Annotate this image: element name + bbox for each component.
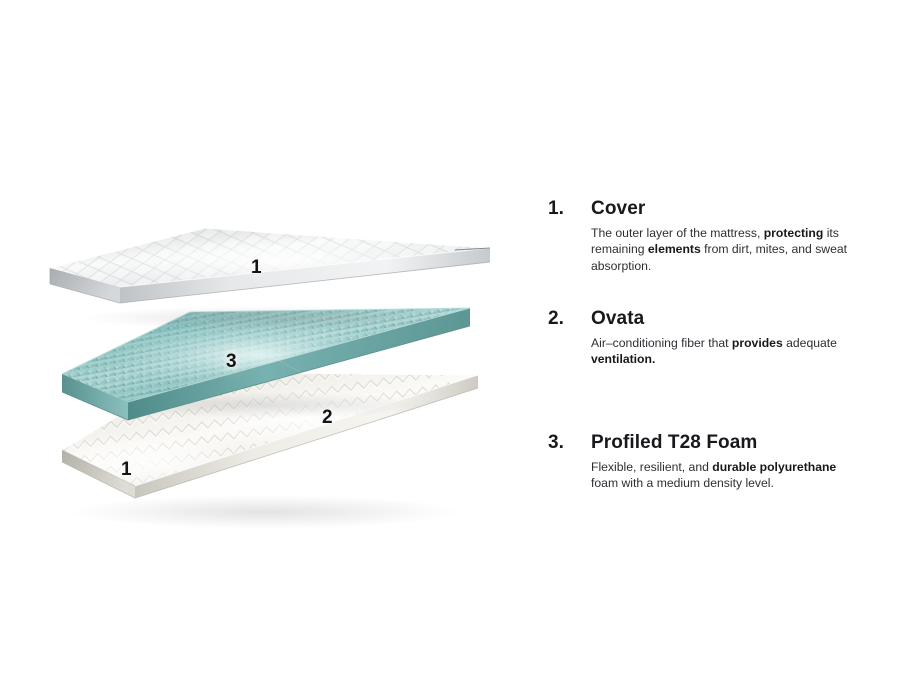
legend-body-cover: Cover The outer layer of the mattress, p…: [591, 196, 868, 274]
layer-legend: 1. Cover The outer layer of the mattress…: [548, 0, 888, 675]
ovata-slab-number: 3: [226, 352, 237, 371]
legend-title-ovata: Ovata: [591, 306, 868, 332]
legend-body-foam: Profiled T28 Foam Flexible, resilient, a…: [591, 430, 868, 492]
mattress-layers-svg: [0, 0, 520, 675]
legend-description-foam: Flexible, resilient, and durable polyure…: [591, 459, 859, 492]
exploded-mattress-illustration: 1 3 2 1: [0, 0, 520, 675]
legend-index-3: 3.: [548, 430, 586, 456]
base-slab-number-middle: 2: [322, 408, 333, 427]
infographic-canvas: 1 3 2 1 1. Cover The outer layer of the …: [0, 0, 900, 675]
cover-slab-number: 1: [251, 258, 262, 277]
legend-title-cover: Cover: [591, 196, 868, 222]
legend-item-foam: 3. Profiled T28 Foam Flexible, resilient…: [548, 430, 868, 492]
legend-index-2: 2.: [548, 306, 586, 332]
legend-item-ovata: 2. Ovata Air–conditioning fiber that pro…: [548, 306, 868, 368]
legend-index-1: 1.: [548, 196, 586, 222]
legend-item-cover: 1. Cover The outer layer of the mattress…: [548, 196, 868, 274]
base-slab-number-left: 1: [121, 460, 132, 479]
legend-description-ovata: Air–conditioning fiber that provides ade…: [591, 335, 859, 368]
cover-layer-graphic: [50, 228, 490, 330]
legend-description-cover: The outer layer of the mattress, protect…: [591, 225, 859, 274]
legend-body-ovata: Ovata Air–conditioning fiber that provid…: [591, 306, 868, 368]
legend-title-foam: Profiled T28 Foam: [591, 430, 868, 456]
